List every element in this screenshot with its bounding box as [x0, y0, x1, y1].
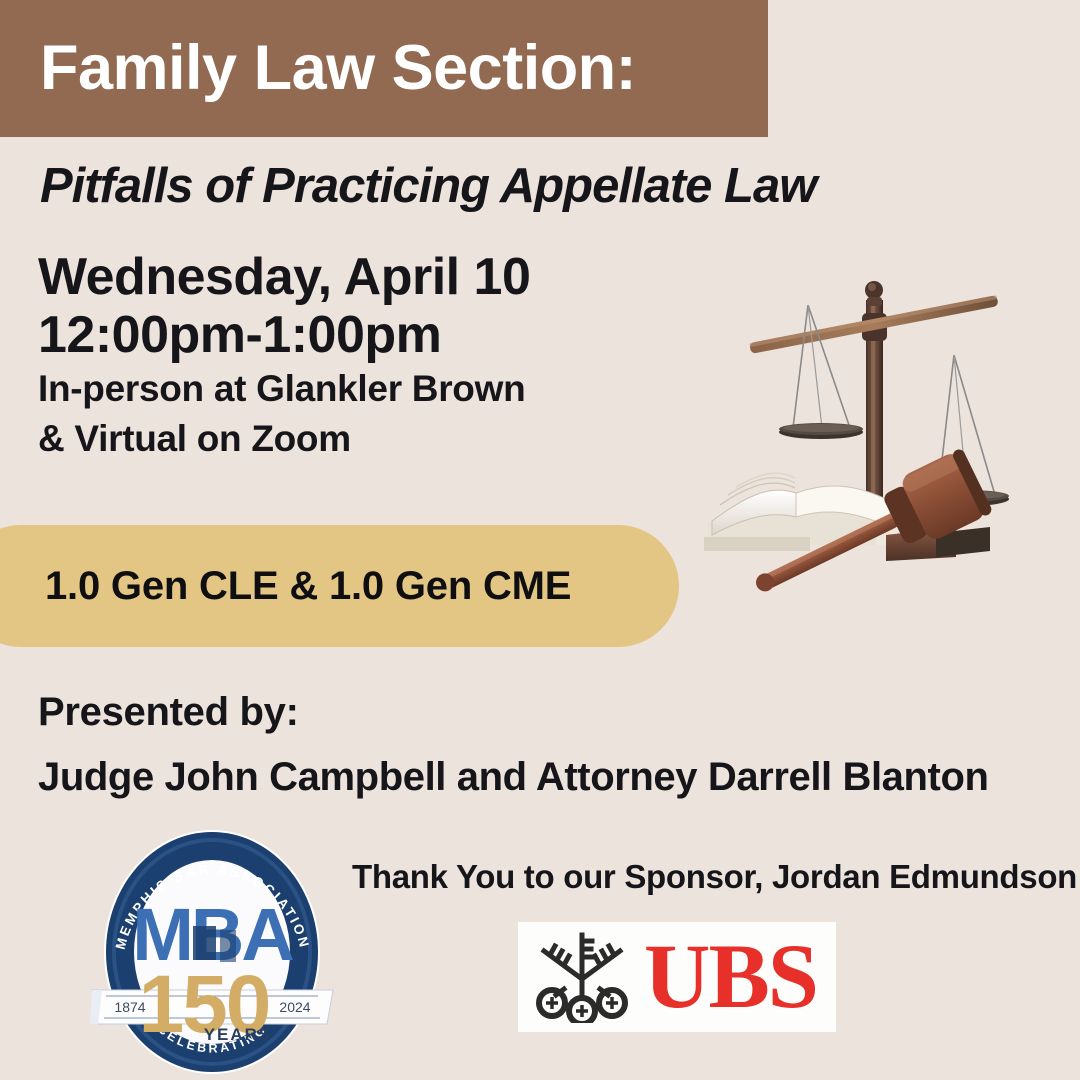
flyer-canvas: Family Law Section: Pitfalls of Practici… [0, 0, 1080, 1080]
header-band: Family Law Section: [0, 0, 768, 137]
event-details: Wednesday, April 10 12:00pm-1:00pm In-pe… [38, 248, 530, 463]
event-date: Wednesday, April 10 [38, 248, 530, 306]
ubs-logo: UBS [518, 922, 836, 1032]
mba-logo: MEMPHIS BAR ASSOCIATION CELEBRATING MBA … [90, 828, 335, 1076]
three-keys-icon [534, 931, 630, 1023]
event-subtitle: Pitfalls of Practicing Appellate Law [40, 158, 816, 214]
event-location-line2: & Virtual on Zoom [38, 414, 530, 463]
cle-credit-label: 1.0 Gen CLE & 1.0 Gen CME [45, 564, 571, 609]
mba-anniversary-word: YEARS [204, 1025, 273, 1044]
event-location-line1: In-person at Glankler Brown [38, 364, 530, 413]
presenter-names: Judge John Campbell and Attorney Darrell… [38, 755, 989, 800]
mba-year-end: 2024 [279, 999, 310, 1015]
ubs-wordmark: UBS [644, 939, 817, 1014]
cle-credit-badge: 1.0 Gen CLE & 1.0 Gen CME [0, 525, 679, 647]
event-time: 12:00pm-1:00pm [38, 306, 530, 364]
presented-by-label: Presented by: [38, 690, 299, 735]
sponsor-thanks: Thank You to our Sponsor, Jordan Edmunds… [352, 858, 1077, 896]
scales-of-justice-illustration [690, 245, 1070, 605]
page-title: Family Law Section: [40, 37, 636, 100]
